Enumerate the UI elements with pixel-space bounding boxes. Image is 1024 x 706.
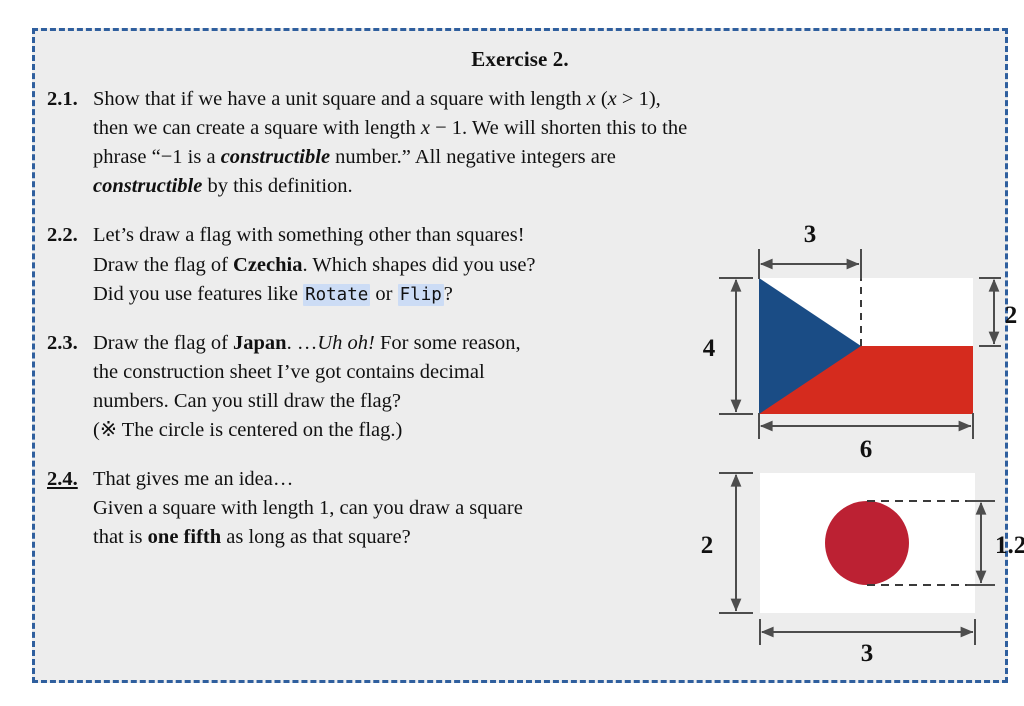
exercise-item-2-4: 2.4. That gives me an idea… Given a squa… <box>47 465 691 552</box>
term-czechia: Czechia <box>233 254 302 276</box>
item-text-run: by this definition. <box>202 175 352 197</box>
item-text-run: Show that if we have a unit square and a… <box>93 88 587 110</box>
term-constructible: constructible <box>93 175 202 197</box>
item-text-run: the construction sheet I’ve got contains… <box>93 361 485 383</box>
page-title: Exercise 2. <box>35 47 1005 72</box>
item-body-2-3: Draw the flag of Japan. …Uh oh! For some… <box>93 329 691 445</box>
japan-dim-left-label: 2 <box>701 532 714 559</box>
czech-flag-figure: 3 4 2 <box>691 201 1001 429</box>
math-var-x: x <box>608 88 617 110</box>
item-body-2-4: That gives me an idea… Given a square wi… <box>93 465 691 552</box>
item-number-2-4: 2.4. <box>47 465 78 494</box>
item-text-note: (※ The circle is centered on the flag.) <box>93 419 402 441</box>
item-text-run: . Which shapes did you use? <box>302 254 535 276</box>
czech-dim-left-label: 4 <box>703 335 716 362</box>
term-uh-oh: Uh oh! <box>317 332 375 354</box>
item-text-run: Given a square with length 1, can you dr… <box>93 497 523 519</box>
math-op-minus: − <box>430 117 452 139</box>
exercise-item-2-1: 2.1. Show that if we have a unit square … <box>47 85 691 201</box>
japan-dim-right-label: 1.2 <box>995 532 1024 559</box>
japan-flag-figure: 2 3 1.2 <box>691 463 1001 663</box>
math-var-x: x <box>587 88 596 110</box>
item-number-2-3: 2.3. <box>47 329 78 358</box>
term-constructible: constructible <box>221 146 330 168</box>
worksheet-panel: Exercise 2. 2.1. Show that if we have a … <box>32 28 1008 683</box>
item-text-run: ? <box>444 283 453 305</box>
item-text-run: Did you use features like <box>93 283 303 305</box>
item-text-run: numbers. Can you still draw the flag? <box>93 390 401 412</box>
exercise-text-column: 2.1. Show that if we have a unit square … <box>47 85 691 553</box>
item-text-run: is a <box>183 146 221 168</box>
item-number-2-1: 2.1. <box>47 85 78 114</box>
math-num-1: 1 <box>452 117 462 139</box>
math-neg-one: −1 <box>161 146 183 168</box>
item-body-2-1: Show that if we have a unit square and a… <box>93 85 691 201</box>
czech-flag-bottom-dim: 6 <box>691 409 1001 461</box>
math-var-x: x <box>421 117 430 139</box>
item-text-run: Draw the flag of <box>93 254 233 276</box>
czech-flag-graphic <box>759 278 973 414</box>
item-text-run: as long as that square? <box>221 526 411 548</box>
item-text-run: Let’s draw a flag with something other t… <box>93 224 525 246</box>
code-token-rotate: Rotate <box>303 284 370 306</box>
exercise-item-2-2: 2.2. Let’s draw a flag with something ot… <box>47 221 691 308</box>
item-text-run: number.” All negative integers are <box>330 146 616 168</box>
term-japan: Japan <box>233 332 287 354</box>
czech-dim-top-label: 3 <box>804 221 817 248</box>
item-text-run: or <box>370 283 397 305</box>
item-text-run: For some reason, <box>375 332 521 354</box>
item-text-run: ( <box>596 88 608 110</box>
czech-dim-right-label: 2 <box>1005 302 1018 329</box>
item-text-run: that is <box>93 526 148 548</box>
figures-column: 3 4 2 <box>691 201 1001 651</box>
exercise-item-2-3: 2.3. Draw the flag of Japan. …Uh oh! For… <box>47 329 691 445</box>
code-token-flip: Flip <box>398 284 444 306</box>
czech-dim-bottom-label: 6 <box>860 436 873 461</box>
item-text-run: That gives me an idea… <box>93 468 293 490</box>
item-text-run: Draw the flag of <box>93 332 233 354</box>
japan-sun-circle <box>825 501 909 585</box>
item-number-2-2: 2.2. <box>47 221 78 250</box>
term-one-fifth: one fifth <box>148 526 221 548</box>
item-text-run: . … <box>287 332 318 354</box>
math-num-1: 1 <box>639 88 649 110</box>
item-body-2-2: Let’s draw a flag with something other t… <box>93 221 691 308</box>
math-op-gt: > <box>617 88 639 110</box>
japan-dim-bottom-label: 3 <box>861 640 874 663</box>
japan-flag-graphic <box>760 473 975 613</box>
